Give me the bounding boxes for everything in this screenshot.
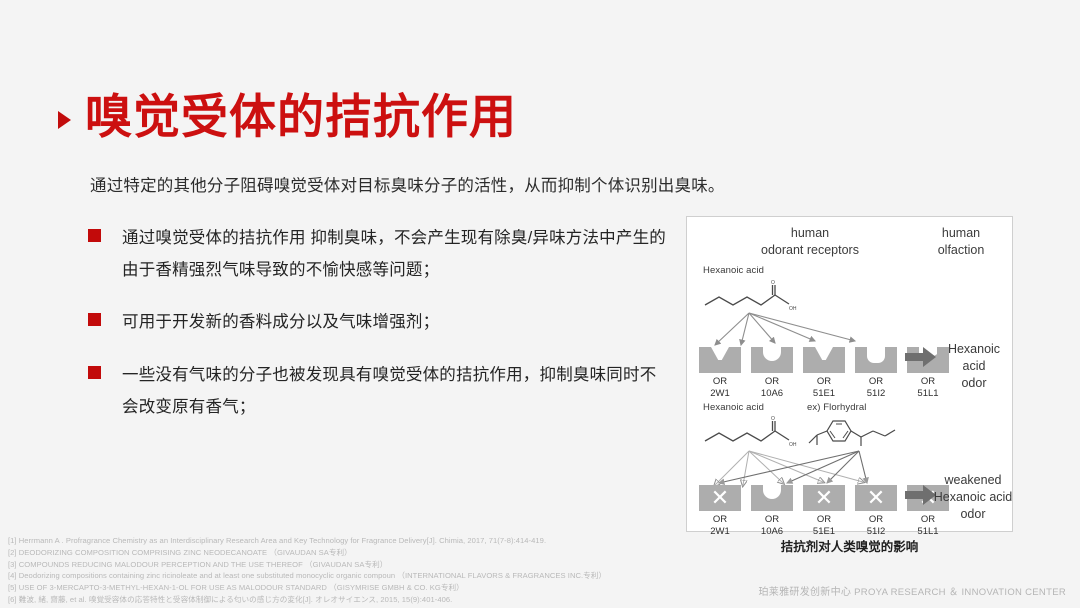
receptor-name-line1: OR [713, 514, 727, 525]
bullet-text: 一些没有气味的分子也被发现具有嗅觉受体的拮抗作用，抑制臭味同时不会改变原有香气； [122, 359, 668, 423]
receptor-name-line2: 2W1 [710, 388, 730, 399]
receptor-shape-icon [803, 347, 845, 373]
receptor-10a6-bottom: OR 10A6 [751, 485, 793, 538]
footer-en: PROYA RESEARCH ＆ INNOVATION CENTER [854, 587, 1066, 598]
result-top: Hexanoic acid odor [935, 341, 1013, 392]
florhydral-structure-icon [803, 413, 903, 453]
reference-item: [6] 難波, 緒, 齋藤, et al. 嗅覚受容体の応答特性と受容体制御によ… [8, 594, 728, 606]
footer-cn: 珀莱雅研发创新中心 [759, 587, 852, 598]
receptor-name-line2: 10A6 [761, 388, 783, 399]
diagram-heading-left: human odorant receptors [715, 225, 905, 259]
heading-left-line1: human [715, 225, 905, 242]
hexanoic-acid-structure-icon: O OH [701, 415, 811, 451]
reference-list: [1] Herrmann A . Profragrance Chemistry … [8, 535, 728, 606]
receptor-51i2-bottom: ✕ OR 51I2 [855, 485, 897, 538]
svg-text:O: O [771, 416, 775, 422]
list-item: 通过嗅觉受体的拮抗作用 抑制臭味，不会产生现有除臭/异味方法中产生的由于香精强烈… [88, 222, 668, 286]
triangle-right-icon [58, 111, 71, 129]
hexanoic-acid-structure-icon: O OH [701, 279, 811, 315]
receptor-shape-blocked-icon: ✕ [699, 485, 741, 511]
bullet-text: 可用于开发新的香料成分以及气味增强剂； [122, 306, 439, 338]
reference-item: [2] DEODORIZING COMPOSITION COMPRISING Z… [8, 547, 728, 559]
square-bullet-icon [88, 229, 101, 242]
result-line2: Hexanoic acid [933, 489, 1013, 506]
receptor-name-line1: OR [817, 376, 831, 387]
result-line2: odor [935, 375, 1013, 392]
reference-item: [1] Herrmann A . Profragrance Chemistry … [8, 535, 728, 547]
svg-text:O: O [771, 280, 775, 286]
heading-right-line2: olfaction [915, 242, 1007, 259]
receptor-name-line1: OR [817, 514, 831, 525]
receptor-label: OR 51I2 [855, 514, 897, 538]
receptor-label: OR 10A6 [751, 514, 793, 538]
result-line3: odor [933, 506, 1013, 523]
receptor-shape-blocked-icon: ✕ [803, 485, 845, 511]
receptor-51i2-top: OR 51I2 [855, 347, 897, 400]
list-item: 可用于开发新的香料成分以及气味增强剂； [88, 306, 668, 338]
molecule-label-hexanoic-bottom: Hexanoic acid [703, 402, 764, 413]
slide-root: 嗅觉受体的拮抗作用 通过特定的其他分子阻碍嗅觉受体对目标臭味分子的活性，从而抑制… [0, 0, 1080, 608]
receptor-name-line2: 51I2 [867, 388, 886, 399]
receptor-shape-blocked-icon: ✕ [855, 485, 897, 511]
receptor-2w1-top: OR 2W1 [699, 347, 741, 400]
receptor-name-line1: OR [921, 376, 935, 387]
receptor-label: OR 10A6 [751, 376, 793, 400]
title-text: 嗅觉受体的拮抗作用 [85, 92, 517, 141]
receptor-name-line1: OR [869, 376, 883, 387]
receptor-name-line1: OR [869, 514, 883, 525]
arrow-right-icon [905, 345, 937, 369]
reference-item: [3] COMPOUNDS REDUCING MALODOUR PERCEPTI… [8, 559, 728, 571]
square-bullet-icon [88, 313, 101, 326]
bullet-text: 通过嗅觉受体的拮抗作用 抑制臭味，不会产生现有除臭/异味方法中产生的由于香精强烈… [122, 222, 668, 286]
molecule-label-hexanoic-top: Hexanoic acid [703, 265, 764, 276]
receptor-name-line1: OR [765, 514, 779, 525]
receptor-shape-icon [751, 347, 793, 373]
receptor-shape-icon [751, 485, 793, 511]
result-line1: weakened [933, 472, 1013, 489]
receptor-shape-icon [855, 347, 897, 373]
reference-item: [5] USE OF 3-MERCAPTO-3-METHYL-HEXAN-1-O… [8, 582, 728, 594]
svg-text:OH: OH [789, 442, 797, 448]
diagram-heading-right: human olfaction [915, 225, 1007, 259]
receptor-name-line1: OR [713, 376, 727, 387]
bullet-list: 通过嗅觉受体的拮抗作用 抑制臭味，不会产生现有除臭/异味方法中产生的由于香精强烈… [88, 222, 668, 443]
receptor-label: OR 2W1 [699, 376, 741, 400]
result-line1: Hexanoic acid [935, 341, 1013, 375]
receptor-shape-icon [699, 347, 741, 373]
diagram-panel: human odorant receptors human olfaction … [686, 216, 1013, 532]
molecule-label-florhydral: ex) Florhydral [807, 402, 866, 413]
receptor-2w1-bottom: ✕ OR 2W1 [699, 485, 741, 538]
receptor-label: OR 51I2 [855, 376, 897, 400]
result-bottom: weakened Hexanoic acid odor [933, 472, 1013, 523]
receptor-label: OR 51E1 [803, 514, 845, 538]
receptor-name-line1: OR [765, 376, 779, 387]
heading-left-line2: odorant receptors [715, 242, 905, 259]
receptor-51e1-top: OR 51E1 [803, 347, 845, 400]
reference-item: [4] Deodorizing compositions containing … [8, 570, 728, 582]
page-title: 嗅觉受体的拮抗作用 [58, 92, 517, 141]
receptor-10a6-top: OR 10A6 [751, 347, 793, 400]
subtitle-text: 通过特定的其他分子阻碍嗅觉受体对目标臭味分子的活性，从而抑制个体识别出臭味。 [90, 172, 725, 196]
square-bullet-icon [88, 366, 101, 379]
diagram-caption: 拮抗剂对人类嗅觉的影响 [686, 536, 1013, 555]
heading-right-line1: human [915, 225, 1007, 242]
receptor-name-line2: 51E1 [813, 388, 835, 399]
receptor-51e1-bottom: ✕ OR 51E1 [803, 485, 845, 538]
receptor-label: OR 51E1 [803, 376, 845, 400]
footer-branding: 珀莱雅研发创新中心 PROYA RESEARCH ＆ INNOVATION CE… [759, 583, 1067, 598]
list-item: 一些没有气味的分子也被发现具有嗅觉受体的拮抗作用，抑制臭味同时不会改变原有香气； [88, 359, 668, 423]
